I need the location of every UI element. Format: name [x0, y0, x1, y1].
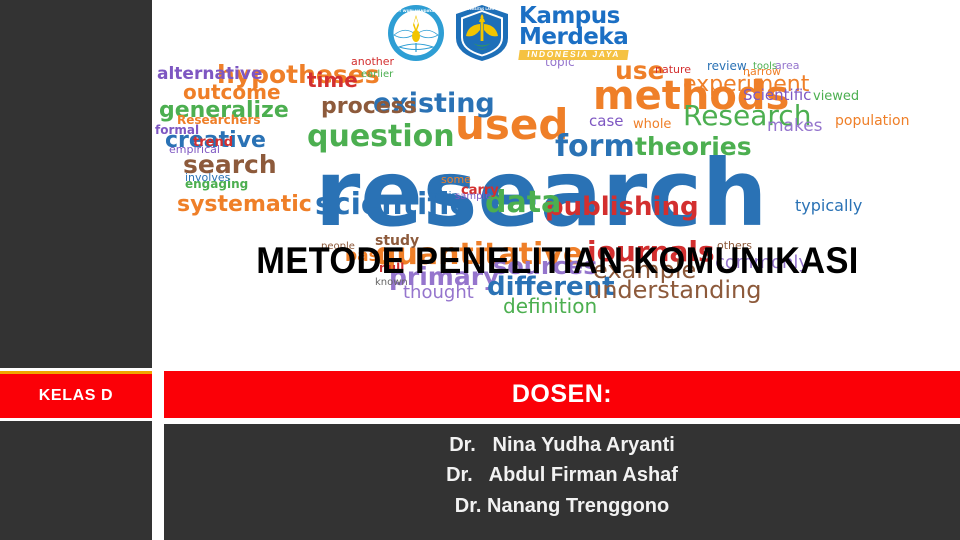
word-cloud-term: makes — [767, 118, 823, 135]
word-cloud-term: population — [835, 114, 910, 128]
word-cloud-term: theories — [635, 134, 752, 159]
word-cloud-term: process — [321, 96, 417, 118]
svg-text:UNIVERSITAS LAMPUNG: UNIVERSITAS LAMPUNG — [461, 7, 503, 11]
word-cloud-term: sample — [455, 192, 491, 202]
word-cloud-term: question — [307, 122, 455, 152]
word-cloud-term: earlier — [361, 70, 393, 80]
kampus-merdeka-logo: Kampus Merdeka INDONESIA JAYA — [517, 6, 628, 60]
svg-text:TUT WURI HANDAYANI: TUT WURI HANDAYANI — [394, 9, 439, 13]
universitas-lampung-logo: UNIVERSITAS LAMPUNG — [451, 3, 513, 63]
list-item: Dr. Nina Yudha Aryanti — [449, 430, 675, 460]
lecturer-heading-label: DOSEN: — [512, 380, 612, 409]
word-cloud-term: systematic — [177, 194, 312, 216]
word-cloud-term: definition — [503, 296, 597, 316]
word-cloud-term: empirical — [169, 144, 220, 155]
word-cloud-term: outcome — [183, 82, 281, 102]
word-cloud-term: form — [555, 132, 635, 162]
word-cloud-term: Scientific — [743, 88, 811, 103]
word-cloud-term: typically — [795, 198, 862, 214]
word-cloud-term: alternative — [157, 66, 262, 83]
lecturer-list: Dr. Nina Yudha Aryanti Dr. Abdul Firman … — [164, 424, 960, 540]
word-cloud-term: involves — [185, 172, 230, 183]
word-cloud-term: tools — [753, 62, 777, 72]
kampus-merdeka-line2: Merdeka — [519, 27, 628, 48]
word-cloud-term: whole — [633, 118, 671, 131]
research-word-cloud-image: researchmethodsusedquestionexistinghypot… — [155, 52, 960, 368]
word-cloud-term: area — [775, 60, 800, 71]
word-cloud-term: time — [307, 70, 358, 90]
left-sidebar-bottom-panel — [0, 421, 152, 540]
list-item: Dr. Abdul Firman Ashaf — [446, 460, 678, 490]
word-cloud-term: thought — [403, 284, 474, 302]
word-cloud-term: publishing — [545, 194, 699, 220]
page-title: METODE PENELITIAN KOMUNIKASI — [183, 238, 932, 284]
class-badge: KELAS D — [0, 371, 152, 418]
word-cloud-term: some — [441, 174, 471, 185]
class-badge-label: KELAS D — [39, 387, 113, 405]
word-cloud-term: Researchers — [177, 114, 261, 126]
left-sidebar-top-panel — [0, 0, 152, 368]
tut-wuri-handayani-logo: TUT WURI HANDAYANI — [385, 3, 447, 63]
word-cloud-term: review — [707, 60, 747, 72]
lecturer-heading-banner: DOSEN: — [164, 371, 960, 418]
word-cloud-term: viewed — [813, 90, 859, 103]
logo-strip: TUT WURI HANDAYANI UNIVERSITAS LAMPUNG K… — [385, 2, 675, 64]
kampus-merdeka-tagline: INDONESIA JAYA — [518, 50, 629, 60]
word-cloud-term: case — [589, 114, 623, 129]
word-cloud-term: nature — [655, 64, 691, 75]
list-item: Dr. Nanang Trenggono — [455, 491, 669, 521]
